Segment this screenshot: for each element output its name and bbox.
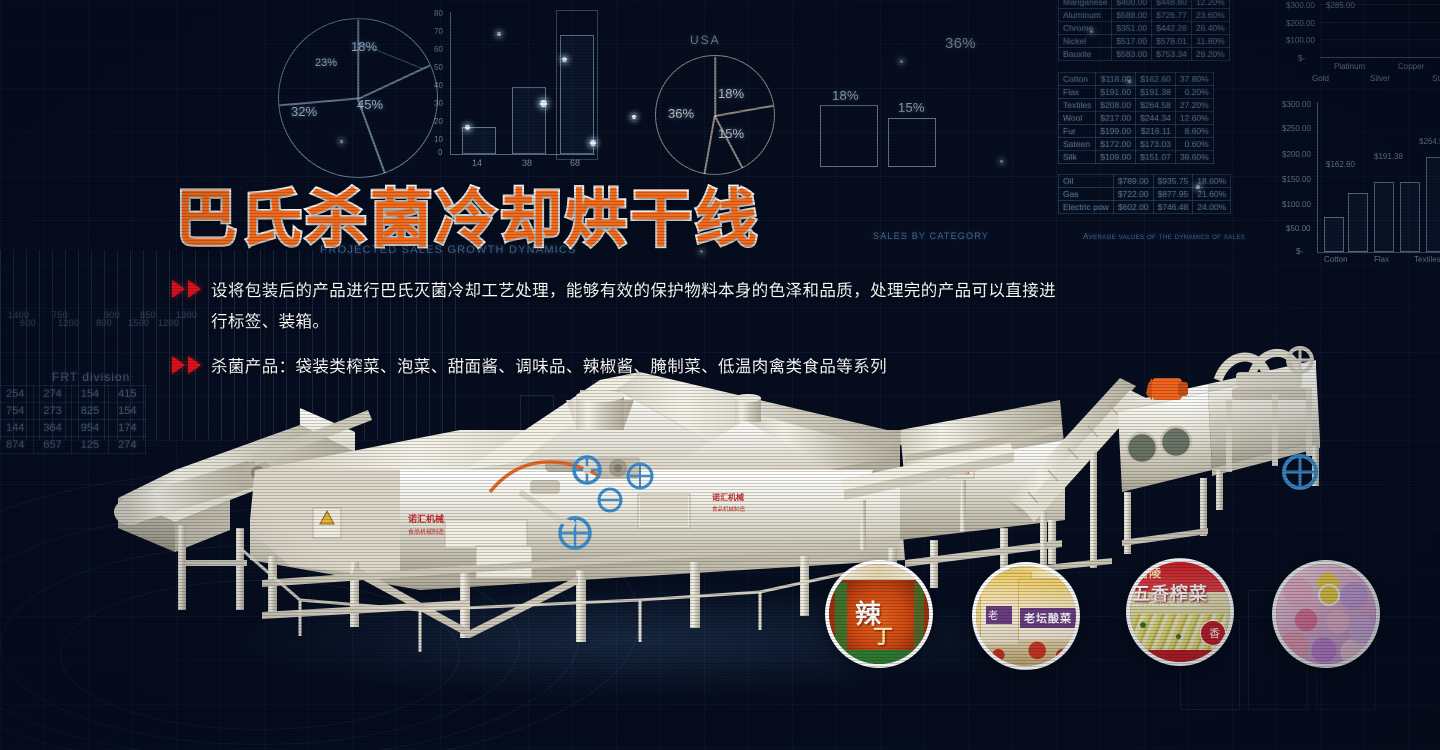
svg-text:诺汇机械: 诺汇机械 [712, 492, 744, 502]
product-image-3: 涪陵 五香榨菜 Spicy Pickled Vegetables 香 [1130, 562, 1230, 662]
double-arrow-icon [172, 356, 201, 374]
double-arrow-icon [172, 280, 201, 298]
product-circle-1[interactable]: 辣 丁 [825, 560, 933, 668]
bullet-item: 设将包装后的产品进行巴氏灭菌冷却工艺处理，能够有效的保护物料本身的色泽和品质，处… [172, 275, 1072, 337]
product-circle-3[interactable]: 涪陵 五香榨菜 Spicy Pickled Vegetables 香 [1126, 558, 1234, 666]
svg-text:诺汇机械: 诺汇机械 [408, 513, 444, 525]
product-image-1: 辣 丁 [829, 564, 929, 664]
bullet-list: 设将包装后的产品进行巴氏灭菌冷却工艺处理，能够有效的保护物料本身的色泽和品质，处… [172, 275, 1072, 396]
product-image-2: 老坛酸菜 老 [976, 566, 1076, 666]
bullet-text: 设将包装后的产品进行巴氏灭菌冷却工艺处理，能够有效的保护物料本身的色泽和品质，处… [211, 275, 1072, 337]
svg-text:食品机械制造: 食品机械制造 [408, 528, 444, 536]
promo-banner: 32% 45% 18% 23% 80 70 60 50 40 30 20 10 … [0, 0, 1440, 750]
svg-text:食品机械制造: 食品机械制造 [712, 505, 746, 513]
product-circle-4[interactable] [1272, 560, 1380, 668]
product-circle-2[interactable]: 老坛酸菜 老 [972, 562, 1080, 670]
product-image-4 [1276, 564, 1376, 664]
bullet-text: 杀菌产品：袋装类榨菜、泡菜、甜面酱、调味品、辣椒酱、腌制菜、低温肉禽类食品等系列 [211, 351, 887, 382]
bullet-item: 杀菌产品：袋装类榨菜、泡菜、甜面酱、调味品、辣椒酱、腌制菜、低温肉禽类食品等系列 [172, 351, 1072, 382]
page-title: 巴氏杀菌冷却烘干线 [175, 168, 760, 258]
